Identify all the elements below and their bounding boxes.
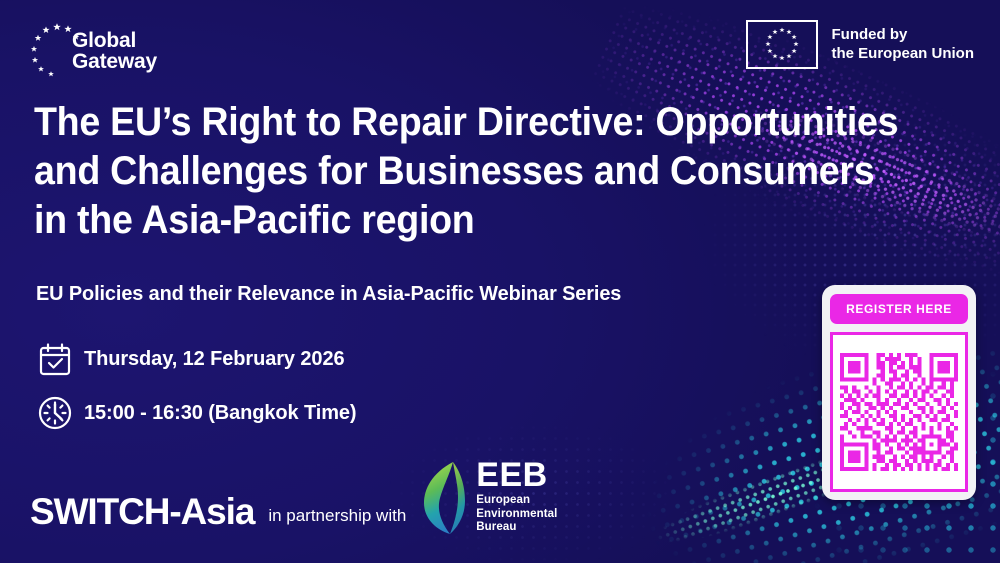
event-details: Thursday, 12 February 2026 15:0 — [32, 340, 357, 448]
page-title: The EU’s Right to Repair Directive: Oppo… — [34, 98, 908, 245]
page-title-line-3: in the Asia-Pacific region — [34, 196, 908, 245]
calendar-check-svg — [36, 340, 74, 378]
eu-funding-text: Funded by the European Union — [832, 26, 975, 63]
qr-code-icon[interactable] — [840, 353, 958, 471]
clock-svg — [36, 394, 74, 432]
register-here-button[interactable]: REGISTER HERE — [830, 294, 968, 324]
calendar-check-icon — [32, 340, 78, 378]
global-gateway-logo: Global Gateway — [30, 22, 157, 80]
eeb-leaf-icon — [420, 459, 468, 535]
eu-flag-stars-svg — [748, 22, 816, 67]
partnership-label: in partnership with — [268, 506, 406, 526]
page-subtitle: EU Policies and their Relevance in Asia-… — [36, 282, 621, 306]
eeb-logo: EEB European Environmental Bureau — [420, 459, 557, 535]
poster-canvas: Global Gateway — [0, 0, 1000, 563]
event-time-row: 15:00 - 16:30 (Bangkok Time) — [32, 394, 357, 432]
footer-logos: SWITCH-Asia in partnership with — [30, 459, 557, 531]
switch-asia-logo: SWITCH-Asia — [30, 493, 254, 531]
global-gateway-line1: Global — [72, 30, 157, 51]
event-time-label: 15:00 - 16:30 (Bangkok Time) — [84, 402, 357, 425]
eeb-leaf-svg — [420, 459, 468, 535]
qr-code-frame — [830, 332, 968, 492]
clock-icon — [32, 394, 78, 432]
page-title-line-1: The EU’s Right to Repair Directive: Oppo… — [34, 98, 908, 147]
eu-funding-line2: the European Union — [832, 45, 975, 64]
eeb-abbreviation: EEB — [476, 459, 557, 491]
eeb-full-name: European Environmental Bureau — [476, 494, 557, 535]
page-title-line-2: and Challenges for Businesses and Consum… — [34, 147, 908, 196]
eeb-name-line1: European — [476, 494, 557, 508]
eeb-name-line3: Bureau — [476, 521, 557, 535]
event-date-label: Thursday, 12 February 2026 — [84, 348, 345, 371]
eu-funding-line1: Funded by — [832, 26, 975, 45]
eeb-wordmark: EEB European Environmental Bureau — [476, 459, 557, 535]
event-date-row: Thursday, 12 February 2026 — [32, 340, 357, 378]
eu-funding-lockup: Funded by the European Union — [746, 20, 975, 69]
global-gateway-wordmark: Global Gateway — [72, 30, 157, 72]
register-card[interactable]: REGISTER HERE — [822, 285, 976, 500]
eu-flag-icon — [746, 20, 818, 69]
global-gateway-line2: Gateway — [72, 51, 157, 72]
eeb-name-line2: Environmental — [476, 508, 557, 522]
